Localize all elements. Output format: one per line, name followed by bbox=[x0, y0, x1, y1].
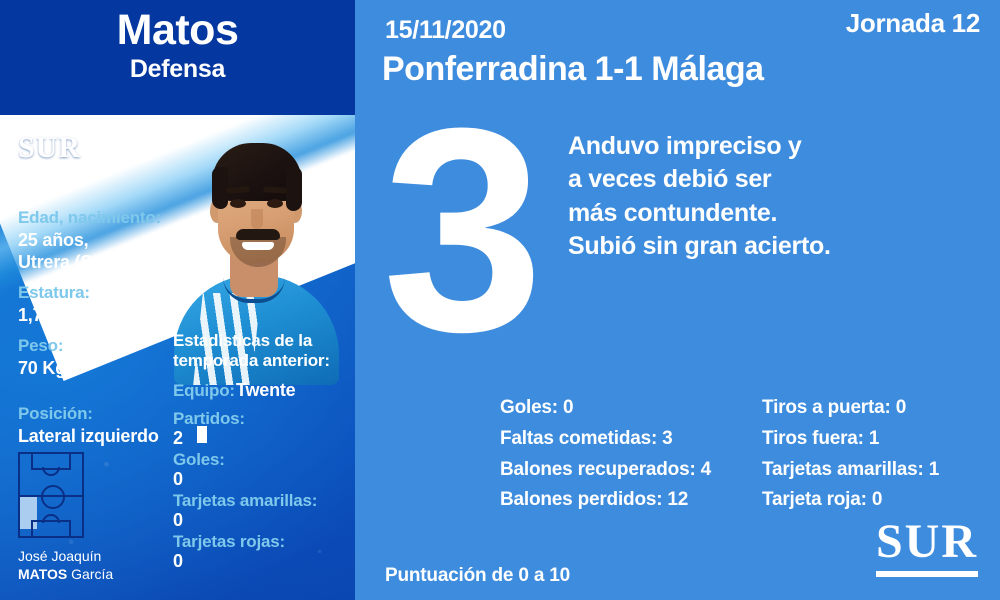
value-rojas-prev: 0 bbox=[173, 551, 183, 572]
value-edad: 25 años, bbox=[18, 230, 88, 251]
prev-season-heading-line1: Estadísticas de la bbox=[173, 331, 312, 351]
label-amarillas-prev: Tarjetas amarillas: bbox=[173, 491, 317, 511]
comment-line-2: a veces debió ser bbox=[568, 163, 968, 196]
stat-tarjetas-amarillas: Tarjetas amarillas: 1 bbox=[762, 455, 939, 486]
player-name-header: Matos Defensa bbox=[0, 0, 355, 115]
stat-goles: Goles: 0 bbox=[500, 393, 711, 424]
label-partidos: Partidos: bbox=[173, 409, 245, 429]
match-stats-column-right: Tiros a puerta: 0 Tiros fuera: 1 Tarjeta… bbox=[762, 393, 939, 516]
label-edad-nacimiento: Edad, nacimiento: bbox=[18, 208, 161, 228]
match-stats-column-left: Goles: 0 Faltas cometidas: 3 Balones rec… bbox=[500, 393, 711, 516]
value-nacimiento: Utrera (Sevilla) bbox=[18, 252, 142, 273]
label-goles-prev: Goles: bbox=[173, 450, 225, 470]
comment-line-1: Anduvo impreciso y bbox=[568, 130, 968, 163]
mouth bbox=[242, 242, 274, 250]
value-estatura: 1,70 m. bbox=[18, 305, 78, 326]
hair-side-right bbox=[286, 167, 302, 211]
value-equipo: Twente bbox=[236, 380, 295, 401]
stat-tiros-fuera: Tiros fuera: 1 bbox=[762, 424, 939, 455]
pitch-diagram bbox=[18, 452, 84, 538]
stat-faltas-cometidas: Faltas cometidas: 3 bbox=[500, 424, 711, 455]
stat-balones-recuperados: Balones recuperados: 4 bbox=[500, 455, 711, 486]
stat-tarjeta-roja: Tarjeta roja: 0 bbox=[762, 485, 939, 516]
sur-logo-sidebar: SUR bbox=[18, 131, 81, 165]
value-amarillas-prev: 0 bbox=[173, 510, 183, 531]
label-peso: Peso: bbox=[18, 336, 63, 356]
label-posicion: Posición: bbox=[18, 404, 93, 424]
full-name-first: José Joaquín bbox=[18, 548, 113, 566]
eye-right bbox=[267, 199, 283, 208]
sur-logo-underline bbox=[876, 571, 978, 577]
pitch-center-circle bbox=[41, 485, 65, 509]
player-position-subtitle: Defensa bbox=[0, 55, 355, 84]
comment-line-3: más contundente. bbox=[568, 197, 968, 230]
comment-line-4: Subió sin gran acierto. bbox=[568, 230, 968, 263]
match-date: 15/11/2020 bbox=[385, 16, 506, 45]
sur-wordmark: SUR bbox=[876, 518, 978, 566]
label-rojas-prev: Tarjetas rojas: bbox=[173, 532, 285, 552]
sur-logo-main: SUR bbox=[876, 518, 978, 577]
matchday-label: Jornada 12 bbox=[846, 8, 980, 39]
player-profile-panel: Matos Defensa SUR Edad, nacimiento: 25 a… bbox=[0, 0, 355, 600]
full-name-surname-second: García bbox=[67, 566, 113, 582]
stat-tiros-a-puerta: Tiros a puerta: 0 bbox=[762, 393, 939, 424]
player-full-name: José Joaquín MATOS García bbox=[18, 548, 113, 583]
rating-comment: Anduvo impreciso y a veces debió ser más… bbox=[568, 130, 968, 263]
value-partidos: 2 bbox=[173, 428, 183, 449]
pitch-arc-bottom bbox=[42, 514, 60, 523]
page-title: Matos bbox=[0, 8, 355, 53]
player-rating-card: Matos Defensa SUR Edad, nacimiento: 25 a… bbox=[0, 0, 1000, 600]
label-equipo: Equipo: bbox=[173, 381, 235, 401]
eye-left bbox=[230, 199, 246, 208]
partidos-bar-indicator bbox=[197, 426, 207, 443]
rating-scale-note: Puntuación de 0 a 10 bbox=[385, 565, 570, 587]
value-posicion: Lateral izquierdo bbox=[18, 426, 159, 447]
nose bbox=[251, 209, 263, 229]
label-estatura: Estatura: bbox=[18, 283, 90, 303]
pitch-arc-top bbox=[42, 467, 60, 476]
full-name-surname: MATOS bbox=[18, 566, 67, 582]
value-goles-prev: 0 bbox=[173, 469, 183, 490]
rating-score: 3 bbox=[370, 85, 550, 375]
stat-balones-perdidos: Balones perdidos: 12 bbox=[500, 485, 711, 516]
prev-season-heading-line2: temporada anterior: bbox=[173, 351, 330, 371]
value-peso: 70 Kg. bbox=[18, 358, 71, 379]
moustache bbox=[236, 229, 280, 240]
